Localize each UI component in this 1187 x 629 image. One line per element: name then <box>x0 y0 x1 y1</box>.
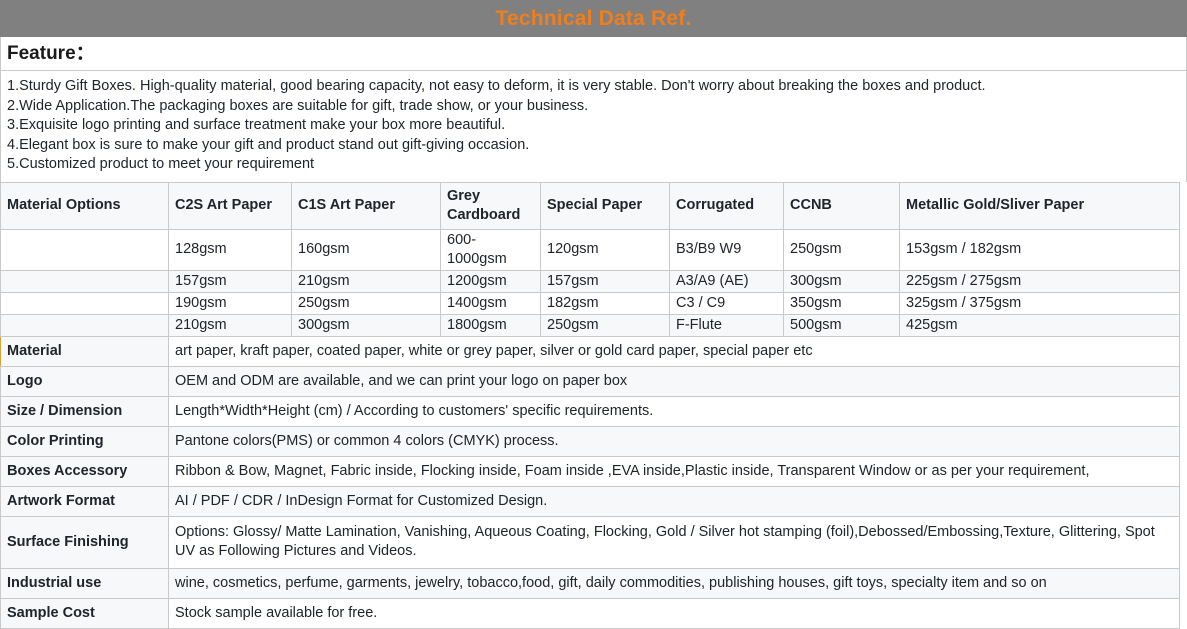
cell-ccnb: 500gsm <box>784 314 900 336</box>
cell-grey: 1800gsm <box>441 314 541 336</box>
col-header-metallic-paper: Metallic Gold/Sliver Paper <box>900 182 1180 229</box>
cell-metallic: 425gsm <box>900 314 1180 336</box>
cell-metallic: 225gsm / 275gsm <box>900 270 1180 292</box>
cell-special: 250gsm <box>541 314 670 336</box>
spec-row-color-printing: Color Printing Pantone colors(PMS) or co… <box>1 426 1180 456</box>
cell-ccnb: 250gsm <box>784 229 900 270</box>
spec-row-artwork-format: Artwork Format AI / PDF / CDR / InDesign… <box>1 486 1180 516</box>
cell-ccnb: 350gsm <box>784 292 900 314</box>
specification-table: Material Options C2S Art Paper C1S Art P… <box>0 182 1180 629</box>
spec-label-artwork-format: Artwork Format <box>1 486 169 516</box>
spec-label-boxes-accessory: Boxes Accessory <box>1 456 169 486</box>
cell-corrugated: A3/A9 (AE) <box>670 270 784 292</box>
page-title: Technical Data Ref. <box>496 8 692 29</box>
col-header-ccnb: CCNB <box>784 182 900 229</box>
spec-value-industrial-use: wine, cosmetics, perfume, garments, jewe… <box>169 568 1180 598</box>
cell-blank <box>1 292 169 314</box>
title-banner: Technical Data Ref. <box>0 0 1187 37</box>
feature-list: 1.Sturdy Gift Boxes. High-quality materi… <box>0 70 1187 182</box>
cell-corrugated: F-Flute <box>670 314 784 336</box>
feature-line-5: 5.Customized product to meet your requir… <box>7 155 1180 175</box>
spec-label-color-printing: Color Printing <box>1 426 169 456</box>
spec-value-boxes-accessory: Ribbon & Bow, Magnet, Fabric inside, Flo… <box>169 456 1180 486</box>
cell-metallic: 153gsm / 182gsm <box>900 229 1180 270</box>
spec-value-color-printing: Pantone colors(PMS) or common 4 colors (… <box>169 426 1180 456</box>
cell-c1s: 300gsm <box>292 314 441 336</box>
col-header-grey-cardboard: Grey Cardboard <box>441 182 541 229</box>
cell-blank <box>1 314 169 336</box>
spec-value-surface-finishing: Options: Glossy/ Matte Lamination, Vanis… <box>169 516 1180 568</box>
cell-grey: 600-1000gsm <box>441 229 541 270</box>
col-header-corrugated: Corrugated <box>670 182 784 229</box>
col-header-c1s-art-paper: C1S Art Paper <box>292 182 441 229</box>
table-row: 210gsm 300gsm 1800gsm 250gsm F-Flute 500… <box>1 314 1180 336</box>
col-header-c2s-art-paper: C2S Art Paper <box>169 182 292 229</box>
spec-value-logo: OEM and ODM are available, and we can pr… <box>169 366 1180 396</box>
cell-grey: 1400gsm <box>441 292 541 314</box>
cell-c2s: 128gsm <box>169 229 292 270</box>
cell-c2s: 210gsm <box>169 314 292 336</box>
table-row: 190gsm 250gsm 1400gsm 182gsm C3 / C9 350… <box>1 292 1180 314</box>
spec-value-size-dimension: Length*Width*Height (cm) / According to … <box>169 396 1180 426</box>
spec-value-artwork-format: AI / PDF / CDR / InDesign Format for Cus… <box>169 486 1180 516</box>
material-options-header-row: Material Options C2S Art Paper C1S Art P… <box>1 182 1180 229</box>
feature-heading-row: Feature： <box>0 37 1187 70</box>
cell-c1s: 210gsm <box>292 270 441 292</box>
cell-c2s: 157gsm <box>169 270 292 292</box>
cell-ccnb: 300gsm <box>784 270 900 292</box>
feature-heading: Feature： <box>7 44 95 63</box>
cell-blank <box>1 229 169 270</box>
feature-line-1: 1.Sturdy Gift Boxes. High-quality materi… <box>7 77 1180 97</box>
feature-line-4: 4.Elegant box is sure to make your gift … <box>7 136 1180 156</box>
cell-c2s: 190gsm <box>169 292 292 314</box>
cell-grey: 1200gsm <box>441 270 541 292</box>
technical-data-sheet: Technical Data Ref. Feature： 1.Sturdy Gi… <box>0 0 1187 620</box>
table-row: 128gsm 160gsm 600-1000gsm 120gsm B3/B9 W… <box>1 229 1180 270</box>
spec-row-sample-cost: Sample Cost Stock sample available for f… <box>1 598 1180 628</box>
spec-row-size-dimension: Size / Dimension Length*Width*Height (cm… <box>1 396 1180 426</box>
spec-label-surface-finishing: Surface Finishing <box>1 516 169 568</box>
spec-label-sample-cost: Sample Cost <box>1 598 169 628</box>
spec-value-material: art paper, kraft paper, coated paper, wh… <box>169 336 1180 366</box>
spec-row-surface-finishing: Surface Finishing Options: Glossy/ Matte… <box>1 516 1180 568</box>
spec-label-logo: Logo <box>1 366 169 396</box>
cell-blank <box>1 270 169 292</box>
col-header-material-options: Material Options <box>1 182 169 229</box>
spec-label-industrial-use: Industrial use <box>1 568 169 598</box>
cell-c1s: 250gsm <box>292 292 441 314</box>
feature-line-3: 3.Exquisite logo printing and surface tr… <box>7 116 1180 136</box>
spec-row-material: Material art paper, kraft paper, coated … <box>1 336 1180 366</box>
cell-special: 120gsm <box>541 229 670 270</box>
spec-row-boxes-accessory: Boxes Accessory Ribbon & Bow, Magnet, Fa… <box>1 456 1180 486</box>
spec-label-material: Material <box>1 336 169 366</box>
feature-line-2: 2.Wide Application.The packaging boxes a… <box>7 97 1180 117</box>
cell-special: 182gsm <box>541 292 670 314</box>
cell-c1s: 160gsm <box>292 229 441 270</box>
table-row: 157gsm 210gsm 1200gsm 157gsm A3/A9 (AE) … <box>1 270 1180 292</box>
cell-corrugated: C3 / C9 <box>670 292 784 314</box>
spec-value-sample-cost: Stock sample available for free. <box>169 598 1180 628</box>
cell-metallic: 325gsm / 375gsm <box>900 292 1180 314</box>
cell-special: 157gsm <box>541 270 670 292</box>
spec-row-industrial-use: Industrial use wine, cosmetics, perfume,… <box>1 568 1180 598</box>
col-header-special-paper: Special Paper <box>541 182 670 229</box>
cell-corrugated: B3/B9 W9 <box>670 229 784 270</box>
spec-row-logo: Logo OEM and ODM are available, and we c… <box>1 366 1180 396</box>
spec-label-size-dimension: Size / Dimension <box>1 396 169 426</box>
